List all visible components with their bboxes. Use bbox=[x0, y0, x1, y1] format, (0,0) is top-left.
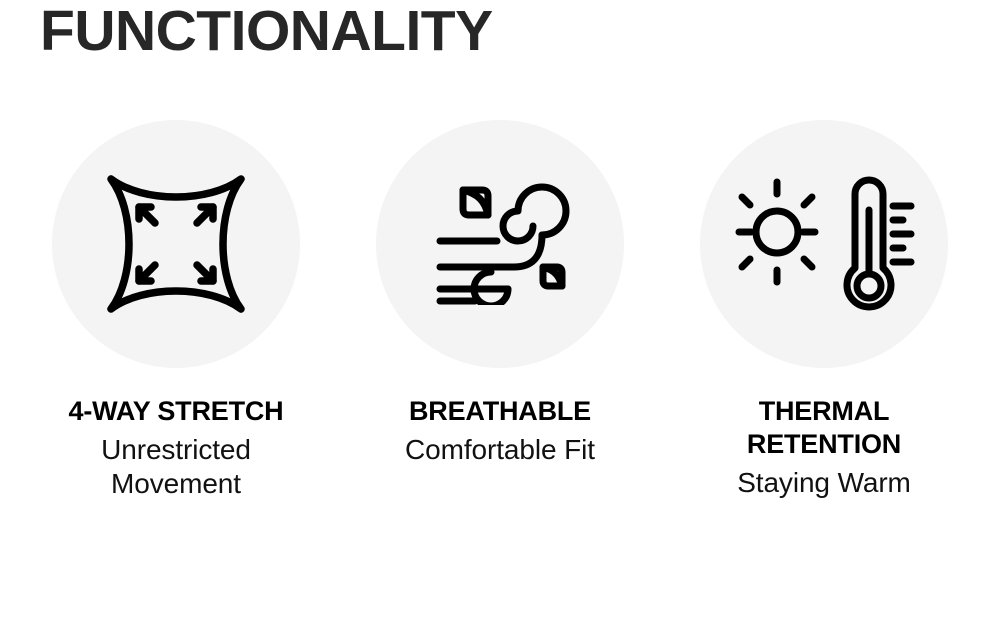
wind-breathable-icon bbox=[430, 183, 570, 305]
sun-thermometer-icon bbox=[733, 174, 915, 314]
page-title: FUNCTIONALITY bbox=[40, 2, 493, 62]
icon-circle-breathable bbox=[376, 120, 624, 368]
feature-card-stretch: 4-WAY STRETCH Unrestricted Movement bbox=[26, 120, 326, 501]
feature-subtitle: Comfortable Fit bbox=[405, 433, 595, 467]
four-way-stretch-icon bbox=[101, 169, 251, 319]
icon-circle-thermal bbox=[700, 120, 948, 368]
feature-title: 4-WAY STRETCH bbox=[69, 395, 284, 428]
feature-subtitle: Staying Warm bbox=[737, 466, 911, 500]
feature-title: THERMAL RETENTION bbox=[717, 395, 932, 461]
feature-title: BREATHABLE bbox=[409, 395, 591, 428]
feature-list: 4-WAY STRETCH Unrestricted Movement bbox=[0, 120, 1000, 501]
icon-circle-stretch bbox=[52, 120, 300, 368]
functionality-panel: FUNCTIONALITY bbox=[0, 0, 1000, 641]
feature-card-thermal: THERMAL RETENTION Staying Warm bbox=[674, 120, 974, 500]
feature-card-breathable: BREATHABLE Comfortable Fit bbox=[350, 120, 650, 467]
feature-subtitle: Unrestricted Movement bbox=[61, 433, 291, 501]
